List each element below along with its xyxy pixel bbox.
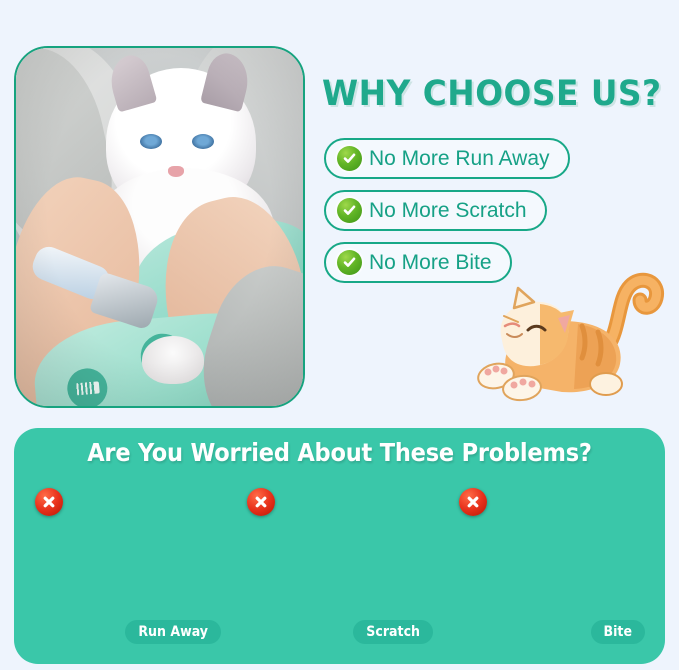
benefit-pill-run-away: No More Run Away [324,138,570,179]
problem-tag: Scratch [353,620,433,644]
benefit-label: No More Run Away [369,147,550,171]
x-mark-icon [459,488,487,516]
check-circle-icon [337,198,362,223]
benefits-list: No More Run Away No More Scratch No More… [324,138,570,283]
benefit-label: No More Scratch [369,199,527,223]
check-circle-icon [337,146,362,171]
x-mark-icon [247,488,275,516]
problems-title: Are You Worried About These Problems? [14,438,665,467]
page-title: WHY CHOOSE US? [322,74,679,114]
check-circle-icon [337,250,362,275]
x-mark-icon [35,488,63,516]
problem-tag: Bite [591,620,645,644]
problems-section: Are You Worried About These Problems? [14,428,665,664]
photo-vignette [16,48,303,406]
why-choose-us-section: WHY CHOOSE US? No More Run Away No More … [0,0,679,420]
cartoon-cat-illustration [470,268,670,413]
problems-photo-row: Run Away Scratch [26,480,653,652]
benefit-pill-scratch: No More Scratch [324,190,547,231]
problem-item-bite: Bite [450,480,653,652]
problem-item-scratch: Scratch [238,480,441,652]
problem-tag: Run Away [125,620,221,644]
problem-item-run-away: Run Away [26,480,229,652]
hero-product-photo [14,46,305,408]
